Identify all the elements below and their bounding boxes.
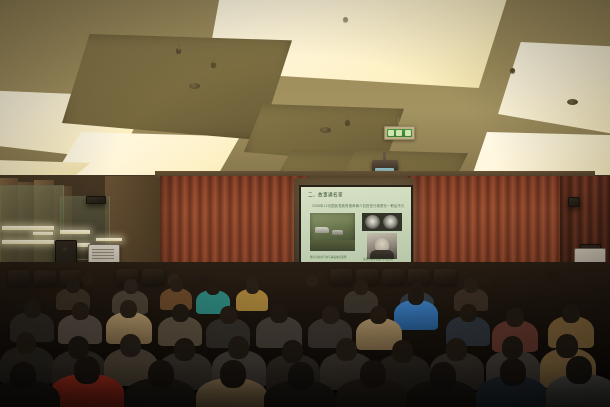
seating-area: [0, 262, 610, 407]
fixture-stem: [178, 44, 180, 50]
attendee-head: [306, 274, 318, 287]
sprinkler-head-icon: [343, 17, 348, 22]
foreground-shadow: [0, 362, 610, 407]
attendee-head: [16, 332, 36, 354]
theater-seat: [8, 270, 30, 286]
attendee-head: [172, 304, 189, 322]
strip-light: [60, 230, 90, 234]
slide-scene-photograph: [310, 213, 355, 251]
screen-surface: 二、故事通名家 1935年12月国民党政府授命蒋介石担任行政院长一职后不久 图为…: [301, 187, 411, 267]
attendee-head: [408, 288, 424, 305]
wall-speaker-left: [86, 196, 106, 204]
slide-subtitle: 1935年12月国民党政府授命蒋介石担任行政院长一职后不久: [312, 203, 405, 208]
attendee-head: [174, 338, 195, 361]
ceiling-speaker-icon: [189, 83, 200, 89]
attendee-head: [506, 308, 524, 327]
ac-vent-grill: [92, 249, 114, 261]
strip-light: [33, 232, 53, 235]
strip-light: [96, 238, 122, 241]
photo-car: [332, 230, 343, 235]
ct-scan-image: [383, 215, 398, 229]
attendee-head: [446, 338, 467, 361]
slide-ct-scan-pair: [362, 213, 402, 231]
ceiling: [0, 0, 610, 182]
attendee-head: [282, 340, 303, 363]
attendee-head: [124, 279, 138, 294]
attendee-head: [82, 272, 94, 285]
slide-portrait-photograph: [367, 233, 397, 259]
slide-left-caption: 图为当时的汽车与事发地点现场: [310, 255, 346, 259]
attendee-head: [246, 280, 259, 294]
ceiling-speaker-icon: [567, 99, 578, 105]
exit-door-icon: [405, 130, 411, 136]
attendee-head: [354, 280, 368, 295]
sprinkler-head-icon: [510, 68, 515, 73]
attendee-head: [336, 338, 357, 361]
theater-seat: [330, 269, 352, 285]
attendee-head: [24, 300, 41, 318]
attendee-head: [562, 304, 580, 323]
attendee-head: [556, 334, 578, 358]
attendee-head: [502, 336, 523, 359]
attendee-head: [66, 278, 80, 293]
attendee-head: [322, 306, 339, 324]
strip-light: [2, 226, 54, 230]
sprinkler-head-icon: [345, 120, 350, 125]
attendee-head: [392, 340, 413, 363]
attendee-head: [546, 271, 558, 284]
ct-scan-image: [365, 215, 380, 229]
attendee-head: [464, 278, 478, 293]
attendee-head: [120, 334, 141, 357]
ceiling-light-panel: [498, 42, 610, 142]
attendee-head: [228, 336, 249, 359]
attendee-head: [480, 272, 492, 285]
theater-seat: [34, 270, 56, 286]
attendee-head: [370, 306, 387, 324]
strip-light: [2, 240, 54, 244]
attendee-head: [270, 304, 288, 323]
speaker-tweeter-icon: [62, 247, 68, 253]
attendee-head: [220, 306, 237, 324]
ceiling-speaker-icon: [320, 127, 331, 133]
theater-seat: [434, 269, 456, 285]
auditorium-photo: 二、故事通名家 1935年12月国民党政府授命蒋介石担任行政院长一职后不久 图为…: [0, 0, 610, 407]
projection-screen: 二、故事通名家 1935年12月国民党政府授命蒋介石担任行政院长一职后不久 图为…: [299, 185, 413, 269]
exit-sign-face: [387, 129, 412, 137]
exit-sign: [384, 126, 415, 140]
photo-ground: [310, 240, 355, 251]
attendee-head: [72, 302, 89, 320]
attendee-head: [206, 280, 220, 295]
slide-right-caption: 头部伤情示意图 与 受伤者: [363, 257, 393, 261]
exit-arrow-icon: [396, 130, 402, 136]
theater-seat: [382, 269, 404, 285]
slide-title: 二、故事通名家: [308, 192, 343, 199]
photo-car: [315, 227, 329, 233]
attendee-head: [460, 304, 477, 322]
attendee-head: [170, 278, 183, 292]
running-man-icon: [388, 130, 394, 136]
attendee-head: [120, 300, 137, 318]
fixture-stem: [213, 57, 215, 63]
wall-speaker-right: [568, 197, 580, 207]
theater-seat: [142, 269, 164, 285]
